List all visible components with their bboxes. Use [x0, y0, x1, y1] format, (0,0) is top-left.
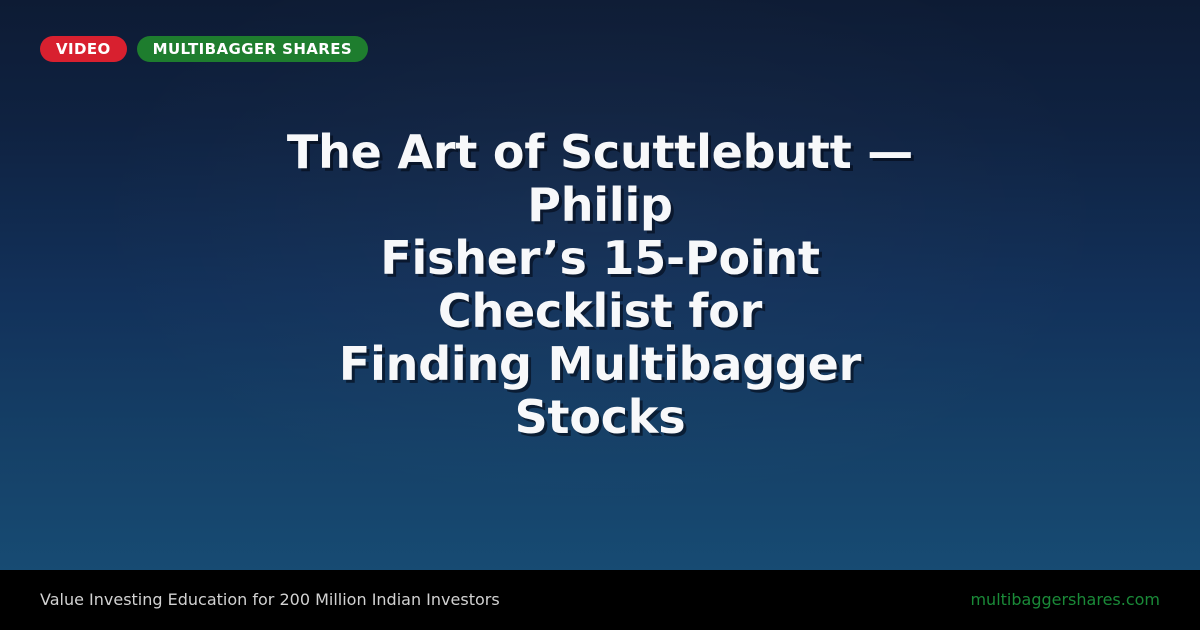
page-title-line-3: Finding Multibagger Stocks — [260, 338, 940, 444]
page-title-line-1: The Art of Scuttlebutt — Philip — [260, 126, 940, 232]
footer-website-url[interactable]: multibaggershares.com — [970, 592, 1160, 608]
badge-category-multibagger-shares[interactable]: MULTIBAGGER SHARES — [137, 36, 368, 62]
social-share-card: VIDEO MULTIBAGGER SHARES The Art of Scut… — [0, 0, 1200, 630]
badge-row: VIDEO MULTIBAGGER SHARES — [40, 36, 368, 62]
title-container: The Art of Scuttlebutt — Philip Fisher’s… — [0, 0, 1200, 570]
page-title-line-2: Fisher’s 15-Point Checklist for — [260, 232, 940, 338]
page-title: The Art of Scuttlebutt — Philip Fisher’s… — [250, 126, 950, 444]
footer-bar: Value Investing Education for 200 Millio… — [0, 570, 1200, 630]
badge-video[interactable]: VIDEO — [40, 36, 127, 62]
card-hero-stage: VIDEO MULTIBAGGER SHARES The Art of Scut… — [0, 0, 1200, 570]
footer-tagline: Value Investing Education for 200 Millio… — [40, 592, 500, 608]
